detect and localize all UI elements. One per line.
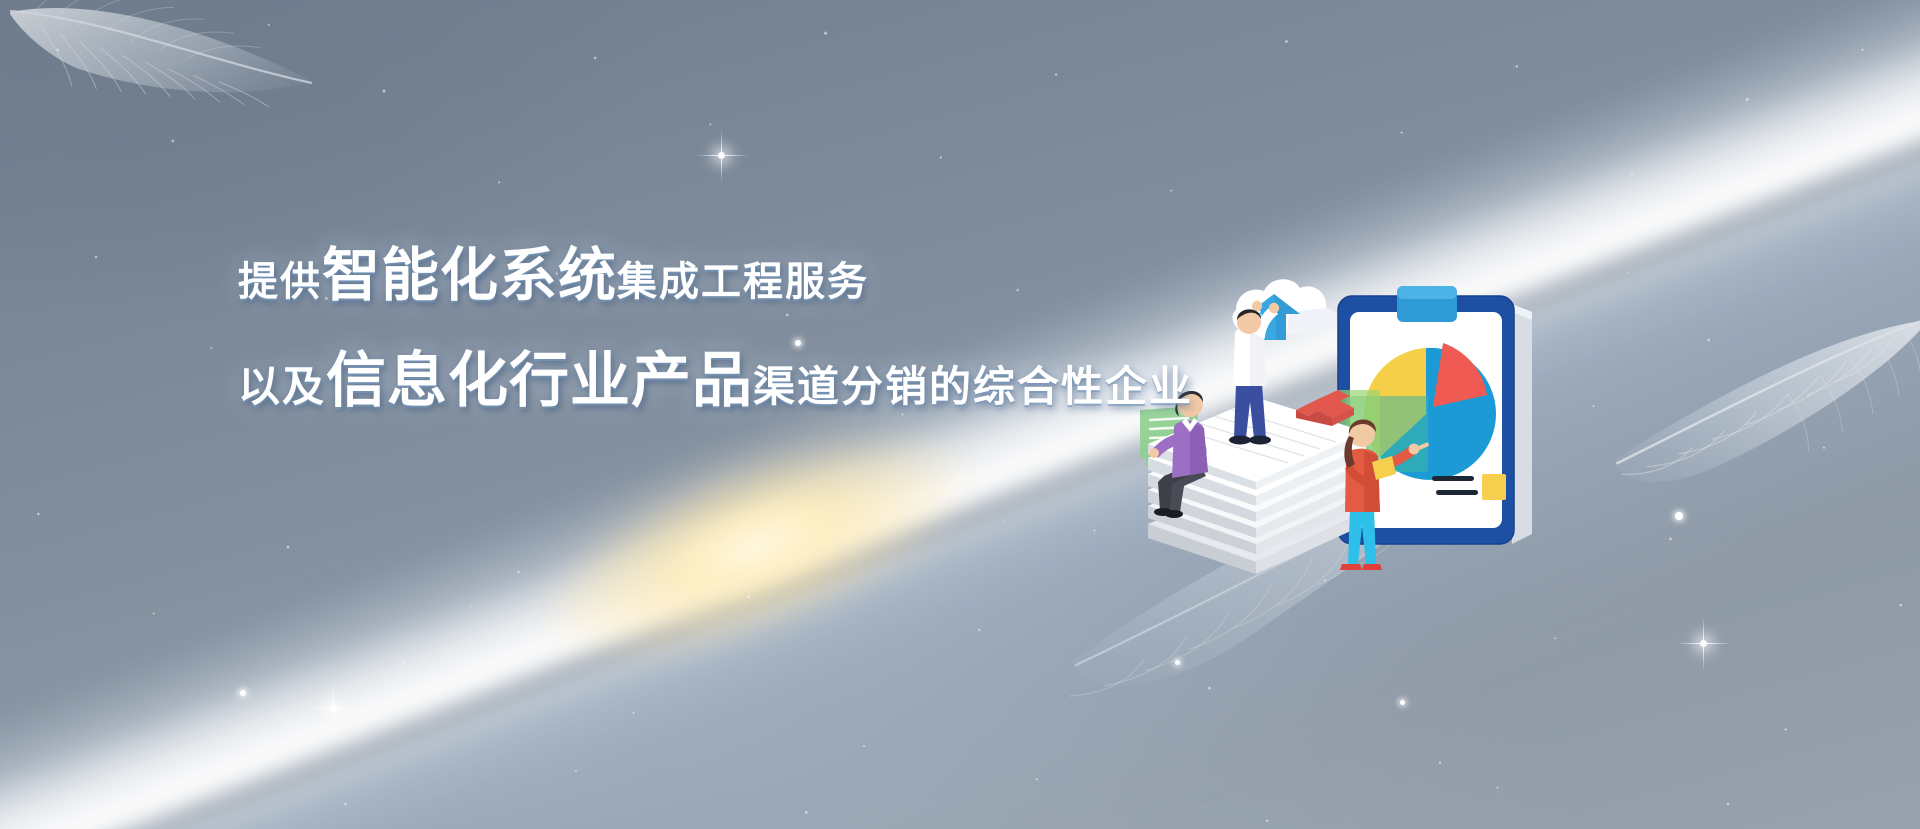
headline-line1-seg2: 智能化系统 <box>322 241 617 309</box>
headline: 提供智能化系统集成工程服务 以及信息化行业产品渠道分销的综合性企业 <box>238 228 1193 419</box>
headline-line1-seg3: 集成工程服务 <box>617 259 869 305</box>
headline-line2-seg1: 以及 <box>238 362 326 411</box>
headline-line2-seg3: 渠道分销的综合性企业 <box>753 362 1193 411</box>
headline-line2-seg2: 信息化行业产品 <box>326 346 753 416</box>
hero-banner: 提供智能化系统集成工程服务 以及信息化行业产品渠道分销的综合性企业 <box>0 0 1920 829</box>
business-analytics-teamwork-illustration <box>1140 262 1560 592</box>
headline-line-1: 提供智能化系统集成工程服务 <box>238 228 1193 312</box>
sticky-note <box>1482 474 1506 500</box>
clipboard-clip <box>1397 286 1457 322</box>
headline-line-2: 以及信息化行业产品渠道分销的综合性企业 <box>238 332 1193 419</box>
headline-line1-seg1: 提供 <box>238 259 322 305</box>
